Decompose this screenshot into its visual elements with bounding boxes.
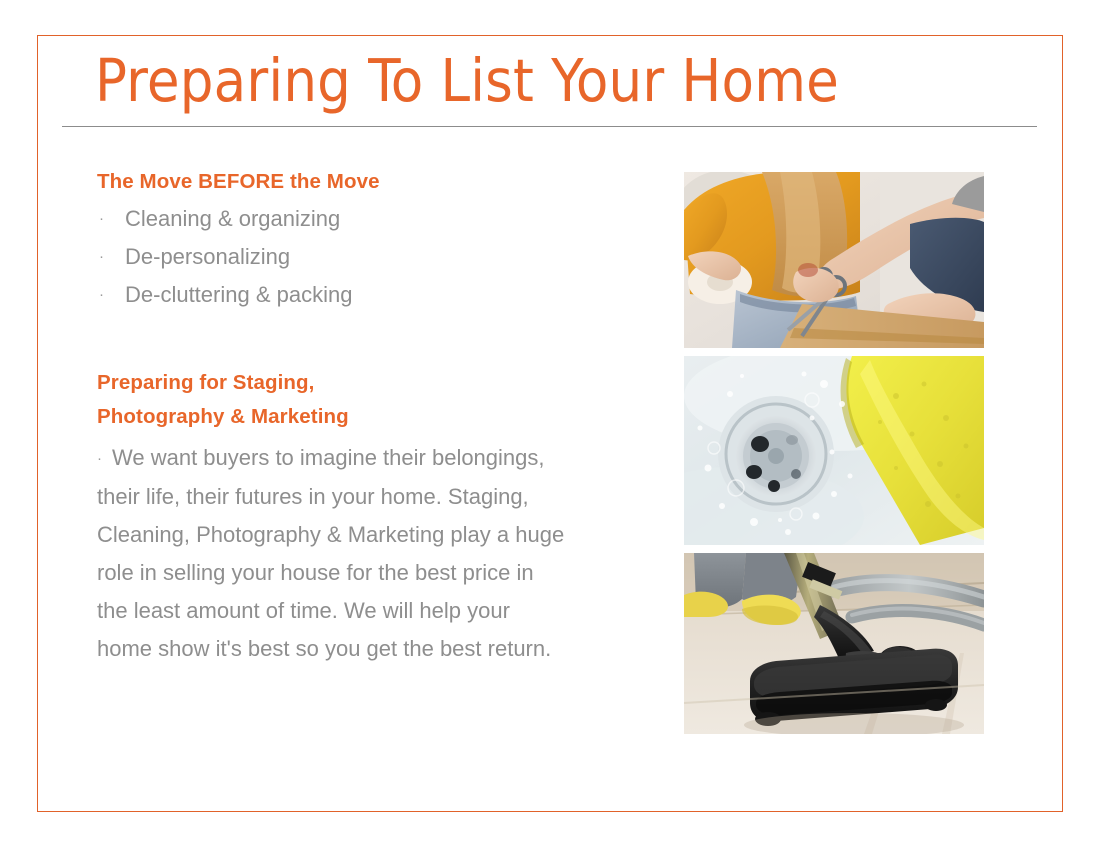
section-2-paragraph: ·We want buyers to imagine their belongi… (97, 439, 567, 668)
section-move-before-the-move: The Move BEFORE the Move · Cleaning & or… (97, 170, 597, 314)
section-heading-2-line-2: Photography & Marketing (97, 400, 597, 434)
bullet-list-1: · Cleaning & organizing · De-personalizi… (97, 200, 597, 314)
bullet-point-icon: · (97, 276, 125, 314)
section-heading-1: The Move BEFORE the Move (97, 170, 597, 195)
content-column-left: The Move BEFORE the Move · Cleaning & or… (97, 170, 597, 668)
bullet-label: De-cluttering & packing (125, 276, 597, 314)
section-spacer (97, 314, 597, 366)
photo-packing-box (684, 172, 984, 348)
list-item: · De-cluttering & packing (97, 276, 597, 314)
photo-vacuum-floor-graphic (684, 553, 984, 734)
bullet-point-icon: · (97, 238, 125, 276)
list-item: · De-personalizing (97, 238, 597, 276)
page-title: Preparing To List Your Home (95, 49, 839, 113)
paragraph-text: We want buyers to imagine their belongin… (97, 445, 564, 661)
bullet-point-icon: · (97, 450, 102, 467)
bullet-label: De-personalizing (125, 238, 597, 276)
photo-stack (684, 172, 984, 734)
slide: Preparing To List Your Home The Move BEF… (0, 0, 1100, 850)
list-item: · Cleaning & organizing (97, 200, 597, 238)
section-heading-2-line-1: Preparing for Staging, (97, 366, 597, 400)
title-divider-rule (62, 126, 1037, 127)
photo-sink-sponge-graphic (684, 356, 984, 545)
photo-sink-sponge (684, 356, 984, 545)
section-preparing-for-staging: Preparing for Staging, Photography & Mar… (97, 366, 597, 669)
photo-vacuum-floor (684, 553, 984, 734)
section-heading-2: Preparing for Staging, Photography & Mar… (97, 366, 597, 435)
bullet-label: Cleaning & organizing (125, 200, 597, 238)
photo-packing-box-graphic (684, 172, 984, 348)
bullet-point-icon: · (97, 200, 125, 238)
